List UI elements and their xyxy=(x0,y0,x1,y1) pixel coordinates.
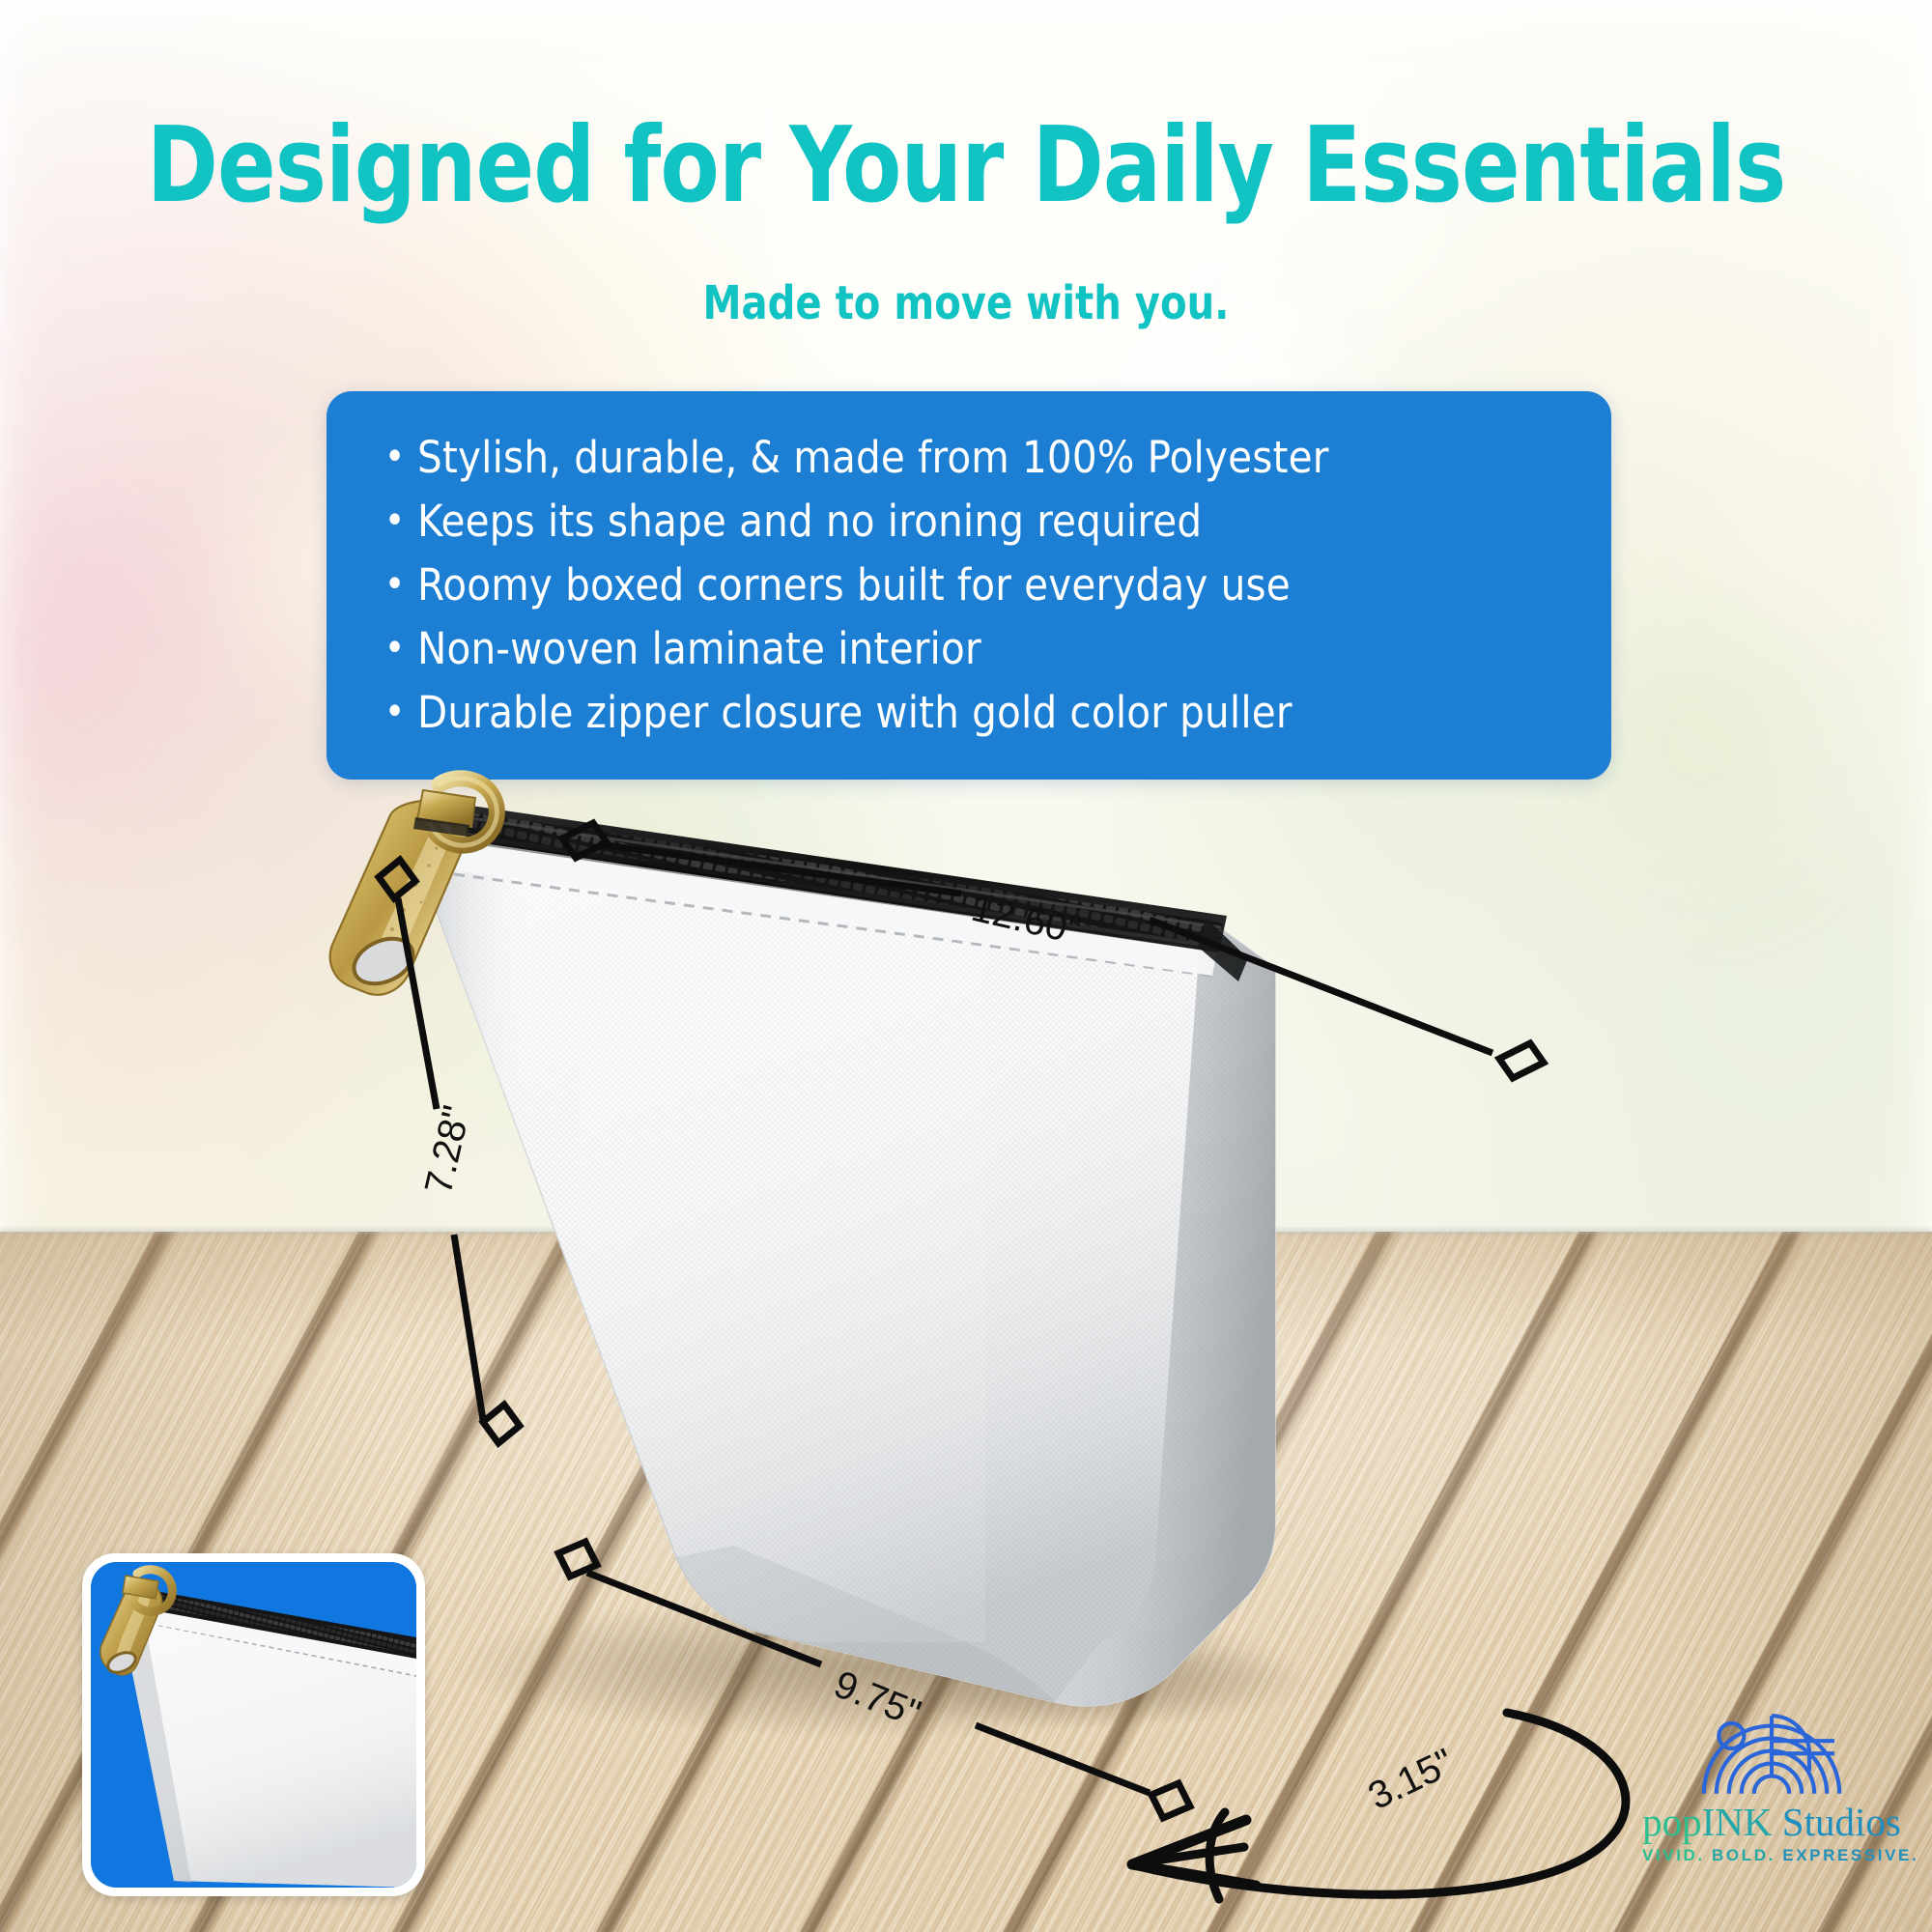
logo-tagline-part2: BOLD. xyxy=(1705,1846,1776,1864)
logo-name-part3: Studios xyxy=(1773,1800,1901,1844)
logo-name-part2: INK xyxy=(1702,1800,1773,1844)
logo-tagline-part3: EXPRESSIVE. xyxy=(1776,1846,1918,1864)
logo-tagline-part1: VIVID. xyxy=(1642,1846,1705,1864)
logo-name-part1: pop xyxy=(1642,1800,1702,1844)
thumbnail-pouch xyxy=(91,1562,416,1888)
brand-logo[interactable]: popINK Studios VIVID. BOLD. EXPRESSIVE. xyxy=(1642,1698,1901,1891)
thumbnail-image xyxy=(91,1562,416,1888)
product-closeup-thumbnail[interactable] xyxy=(82,1553,425,1896)
logo-wordmark: popINK Studios xyxy=(1642,1801,1901,1843)
logo-tagline: VIVID. BOLD. EXPRESSIVE. xyxy=(1642,1846,1901,1865)
product-infographic: Designed for Your Daily Essentials Made … xyxy=(0,0,1932,1932)
popink-logo-mark xyxy=(1642,1698,1901,1799)
